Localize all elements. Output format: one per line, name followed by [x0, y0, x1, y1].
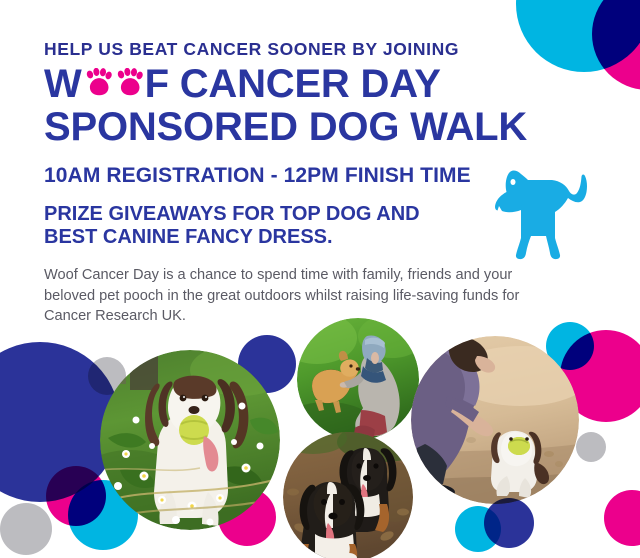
- circle-indigo-bottom-mid: [484, 498, 534, 548]
- circle-magenta-bottom-right: [604, 490, 640, 546]
- prize-line-1: PRIZE GIVEAWAYS FOR TOP DOG AND: [44, 203, 420, 225]
- photo-person-with-golden-retriever: [297, 318, 419, 440]
- dog-silhouette-icon: [486, 168, 602, 265]
- kicker-line: HELP US BEAT CANCER SOONER BY JOINING: [44, 40, 564, 59]
- title-line-1-prefix: W: [44, 65, 82, 104]
- photo-spaniel-with-ball-in-grass: [100, 350, 280, 530]
- paw-print-icon: [114, 64, 143, 103]
- poster-canvas: HELP US BEAT CANCER SOONER BY JOINING W: [0, 0, 640, 558]
- circle-magenta-top-right: [592, 0, 640, 90]
- photo-two-bernese-mountain-dogs: [283, 432, 413, 558]
- paw-print-pair: [83, 64, 143, 103]
- prize-line-2: BEST CANINE FANCY DRESS.: [44, 226, 333, 248]
- circle-grey-right: [576, 432, 606, 462]
- body-paragraph: Woof Cancer Day is a chance to spend tim…: [44, 265, 564, 327]
- circle-grey-bottom-left: [0, 503, 52, 555]
- photo-spaniel-on-beach: [411, 336, 579, 504]
- title-line-1-suffix: F CANCER DAY: [145, 65, 441, 104]
- title-line-2: SPONSORED DOG WALK: [44, 108, 564, 147]
- paw-print-icon: [83, 64, 112, 103]
- title-line-1: W: [44, 65, 564, 104]
